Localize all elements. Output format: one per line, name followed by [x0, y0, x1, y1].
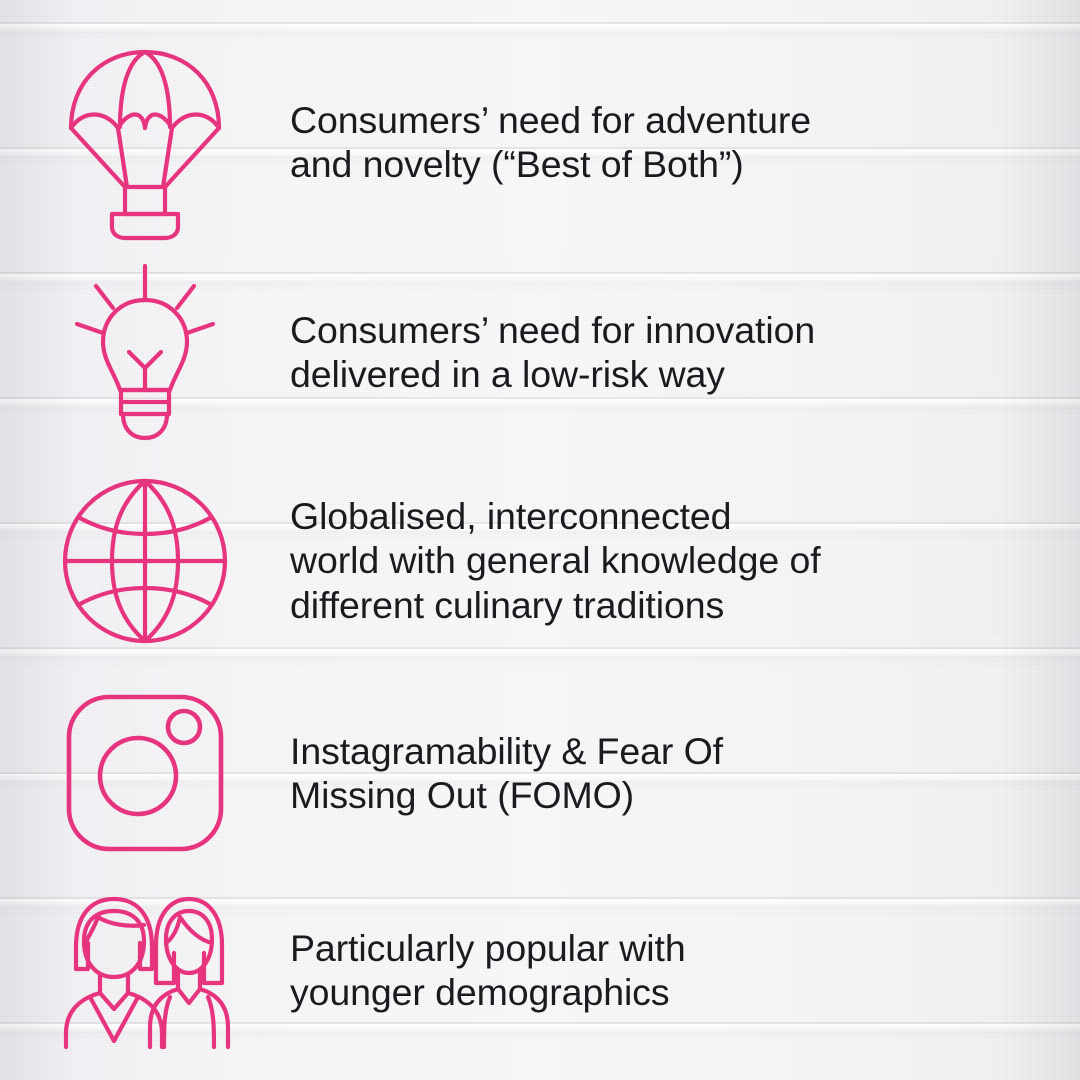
- lightbulb-icon: [65, 262, 225, 442]
- bullet-list: Consumers’ need for adventure and novelt…: [0, 0, 1080, 1080]
- icon-container: [0, 891, 290, 1049]
- icon-container: [0, 694, 290, 852]
- icon-container: [0, 478, 290, 644]
- list-item: Consumers’ need for adventure and novelt…: [0, 42, 1080, 242]
- list-item: Particularly popular with younger demogr…: [0, 890, 1080, 1050]
- globe-icon: [62, 478, 228, 644]
- list-item-text: Consumers’ need for innovation delivered…: [290, 308, 1080, 397]
- list-item: Instagramability & Fear Of Missing Out (…: [0, 692, 1080, 854]
- list-item-text: Consumers’ need for adventure and novelt…: [290, 98, 1080, 187]
- two-people-icon: [52, 891, 238, 1049]
- list-item-text: Instagramability & Fear Of Missing Out (…: [290, 729, 1080, 818]
- list-item-text: Particularly popular with younger demogr…: [290, 926, 1080, 1015]
- slide-canvas: Consumers’ need for adventure and novelt…: [0, 0, 1080, 1080]
- icon-container: [0, 44, 290, 240]
- icon-container: [0, 262, 290, 442]
- list-item: Globalised, interconnected world with ge…: [0, 478, 1080, 643]
- instagram-camera-icon: [66, 694, 224, 852]
- list-item-text: Globalised, interconnected world with ge…: [290, 494, 1080, 627]
- list-item: Consumers’ need for innovation delivered…: [0, 262, 1080, 442]
- parachute-icon: [65, 44, 225, 240]
